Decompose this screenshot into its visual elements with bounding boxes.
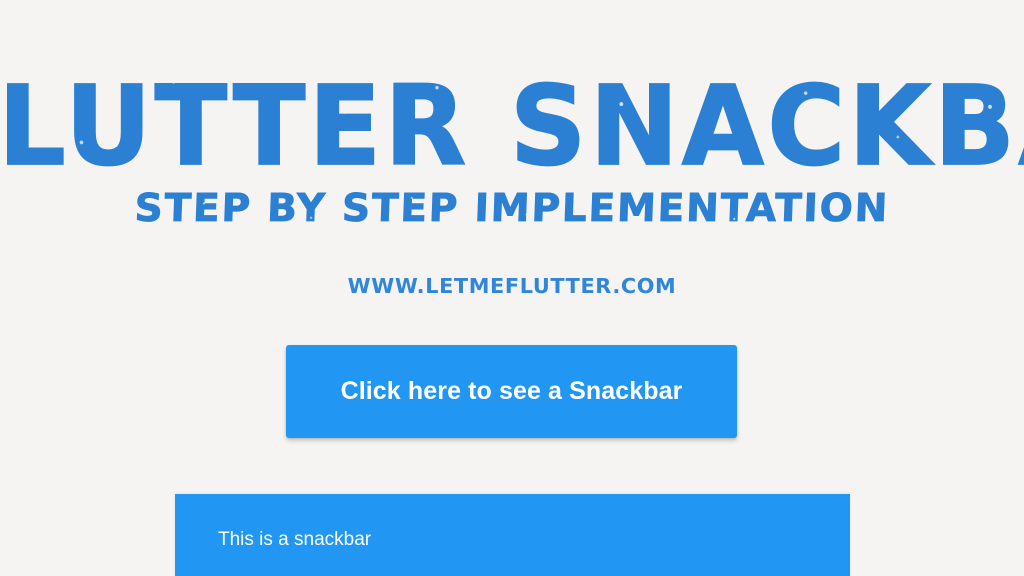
site-url-text: WWW.LETMEFLUTTER.COM: [348, 272, 677, 300]
site-url-container: WWW.LETMEFLUTTER.COM: [0, 272, 1024, 300]
app-screenshot: FLUTTER SNACKBAR STEP BY STEP IMPLEMENTA…: [0, 0, 1024, 576]
show-snackbar-button-label: Click here to see a Snackbar: [341, 379, 683, 404]
page-title-container: FLUTTER SNACKBAR: [0, 74, 1024, 178]
snackbar[interactable]: This is a snackbar: [175, 494, 850, 576]
snackbar-message: This is a snackbar: [218, 529, 371, 551]
page-title: FLUTTER SNACKBAR: [0, 65, 1024, 188]
page-subtitle-container: STEP BY STEP IMPLEMENTATION: [0, 186, 1024, 232]
page-subtitle: STEP BY STEP IMPLEMENTATION: [134, 184, 890, 235]
show-snackbar-button[interactable]: Click here to see a Snackbar: [286, 345, 737, 438]
